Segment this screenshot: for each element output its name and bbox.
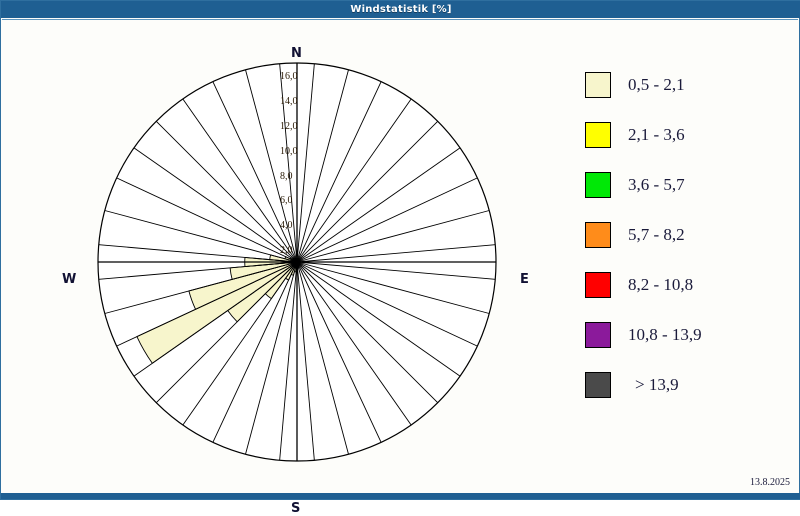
legend-item[interactable]: 3,6 - 5,7 bbox=[585, 160, 795, 210]
window-title-bar: Windstatistik [%] bbox=[1, 1, 800, 18]
legend-item[interactable]: 0,5 - 2,1 bbox=[585, 60, 795, 110]
radial-tick-label: 6,0 bbox=[280, 195, 293, 206]
radial-tick-label: 2,0 bbox=[280, 245, 293, 256]
legend: 0,5 - 2,12,1 - 3,63,6 - 5,75,7 - 8,28,2 … bbox=[585, 60, 795, 410]
radial-tick-label: 12,0 bbox=[280, 121, 298, 132]
legend-label: 2,1 - 3,6 bbox=[628, 125, 685, 145]
legend-label: 3,6 - 5,7 bbox=[628, 175, 685, 195]
compass-label-west: W bbox=[62, 272, 76, 287]
legend-label: 0,5 - 2,1 bbox=[628, 75, 685, 95]
legend-label: 5,7 - 8,2 bbox=[628, 225, 685, 245]
content-area: N E S W 2,04,06,08,010,012,014,016,0 0,5… bbox=[2, 19, 798, 498]
window-title: Windstatistik [%] bbox=[350, 4, 451, 15]
legend-label: 8,2 - 10,8 bbox=[628, 275, 693, 295]
legend-swatch bbox=[585, 172, 611, 198]
legend-swatch bbox=[585, 322, 611, 348]
legend-swatch bbox=[585, 72, 611, 98]
legend-item[interactable]: > 13,9 bbox=[585, 360, 795, 410]
window-root: Windstatistik [%] N E S W 2,04,06,08,010… bbox=[0, 0, 800, 500]
legend-swatch bbox=[585, 122, 611, 148]
compass-label-south: S bbox=[291, 501, 300, 516]
radial-tick-label: 14,0 bbox=[280, 96, 298, 107]
legend-item[interactable]: 2,1 - 3,6 bbox=[585, 110, 795, 160]
legend-label: > 13,9 bbox=[635, 375, 679, 395]
compass-label-north: N bbox=[291, 46, 302, 61]
radial-tick-label: 4,0 bbox=[280, 220, 293, 231]
legend-swatch bbox=[585, 372, 611, 398]
radial-tick-label: 10,0 bbox=[280, 146, 298, 157]
legend-swatch bbox=[585, 222, 611, 248]
legend-swatch bbox=[585, 272, 611, 298]
legend-label: 10,8 - 13,9 bbox=[628, 325, 702, 345]
radial-tick-label: 8,0 bbox=[280, 171, 293, 182]
window-bottom-bar bbox=[1, 493, 800, 499]
date-stamp: 13.8.2025 bbox=[750, 477, 790, 488]
legend-item[interactable]: 8,2 - 10,8 bbox=[585, 260, 795, 310]
legend-item[interactable]: 10,8 - 13,9 bbox=[585, 310, 795, 360]
radial-tick-label: 16,0 bbox=[280, 71, 298, 82]
legend-item[interactable]: 5,7 - 8,2 bbox=[585, 210, 795, 260]
compass-label-east: E bbox=[520, 272, 529, 287]
